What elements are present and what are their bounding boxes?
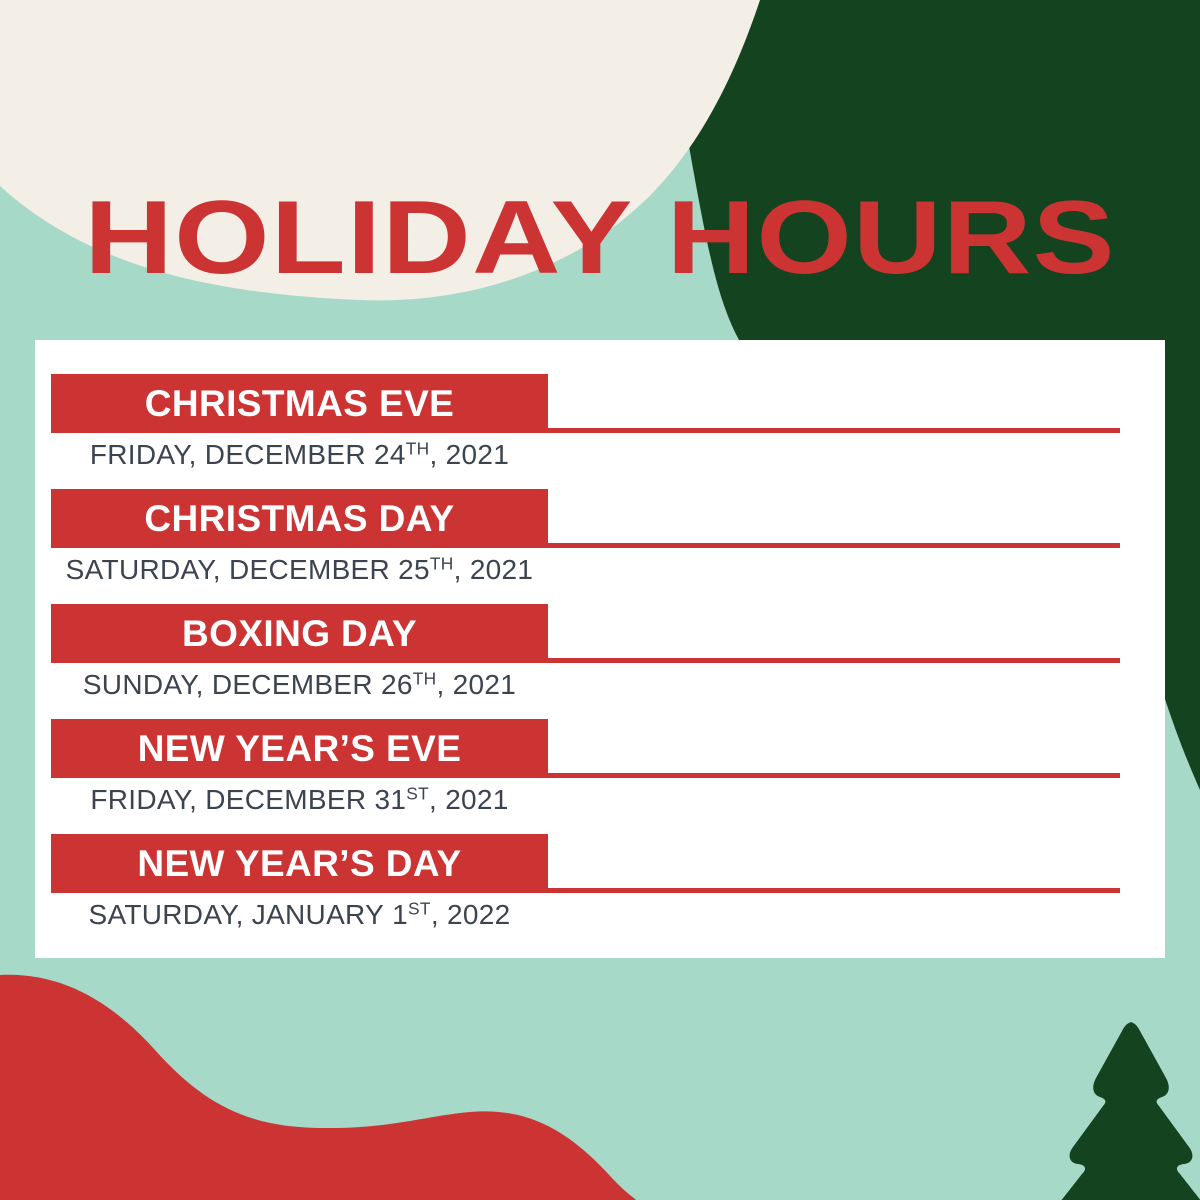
hours-write-in-rule[interactable] xyxy=(548,773,1120,778)
date-month: JANUARY xyxy=(252,899,384,930)
date-year: 2021 xyxy=(470,554,534,585)
date-ordinal: TH xyxy=(430,553,454,573)
schedule-row: CHRISTMAS EVE FRIDAY, DECEMBER 24TH, 202… xyxy=(35,374,1165,489)
date-day: 31 xyxy=(374,784,406,815)
date-day: 26 xyxy=(381,669,413,700)
date-year: 2021 xyxy=(445,784,509,815)
date-year: 2022 xyxy=(447,899,511,930)
holiday-date-label: FRIDAY, DECEMBER 31ST, 2021 xyxy=(51,783,548,817)
holiday-date-label: SATURDAY, DECEMBER 25TH, 2021 xyxy=(51,553,548,587)
date-month: DECEMBER xyxy=(212,669,373,700)
holiday-date-label: SUNDAY, DECEMBER 26TH, 2021 xyxy=(51,668,548,702)
holiday-name-bar: CHRISTMAS DAY xyxy=(51,489,548,548)
schedule-row: CHRISTMAS DAY SATURDAY, DECEMBER 25TH, 2… xyxy=(35,489,1165,604)
schedule-rows-list: CHRISTMAS EVE FRIDAY, DECEMBER 24TH, 202… xyxy=(35,340,1165,958)
date-day: 1 xyxy=(392,899,408,930)
date-weekday: SATURDAY, xyxy=(66,554,221,585)
holiday-name-bar: CHRISTMAS EVE xyxy=(51,374,548,433)
date-weekday: FRIDAY, xyxy=(90,439,197,470)
holiday-date-label: SATURDAY, JANUARY 1ST, 2022 xyxy=(51,898,548,932)
date-ordinal: ST xyxy=(406,783,429,803)
holiday-name-label: CHRISTMAS DAY xyxy=(144,500,454,537)
date-month: DECEMBER xyxy=(229,554,390,585)
schedule-card: CHRISTMAS EVE FRIDAY, DECEMBER 24TH, 202… xyxy=(35,340,1165,958)
date-year: 2021 xyxy=(446,439,510,470)
holiday-name-bar: NEW YEAR’S EVE xyxy=(51,719,548,778)
holiday-name-bar: NEW YEAR’S DAY xyxy=(51,834,548,893)
hours-write-in-rule[interactable] xyxy=(548,543,1120,548)
date-weekday: FRIDAY, xyxy=(90,784,197,815)
schedule-row: NEW YEAR’S DAY SATURDAY, JANUARY 1ST, 20… xyxy=(35,834,1165,949)
date-day: 25 xyxy=(398,554,430,585)
date-weekday: SUNDAY, xyxy=(83,669,204,700)
schedule-row: BOXING DAY SUNDAY, DECEMBER 26TH, 2021 xyxy=(35,604,1165,719)
date-month: DECEMBER xyxy=(205,439,366,470)
holiday-name-bar: BOXING DAY xyxy=(51,604,548,663)
date-month: DECEMBER xyxy=(205,784,366,815)
holiday-name-label: NEW YEAR’S EVE xyxy=(138,730,462,767)
date-ordinal: TH xyxy=(413,668,437,688)
hours-write-in-rule[interactable] xyxy=(548,658,1120,663)
date-ordinal: ST xyxy=(408,898,431,918)
holiday-date-label: FRIDAY, DECEMBER 24TH, 2021 xyxy=(51,438,548,472)
holiday-name-label: NEW YEAR’S DAY xyxy=(137,845,461,882)
hours-write-in-rule[interactable] xyxy=(548,888,1120,893)
date-year: 2021 xyxy=(453,669,517,700)
holiday-name-label: CHRISTMAS EVE xyxy=(145,385,454,422)
holiday-name-label: BOXING DAY xyxy=(182,615,417,652)
date-weekday: SATURDAY, xyxy=(88,899,243,930)
schedule-row: NEW YEAR’S EVE FRIDAY, DECEMBER 31ST, 20… xyxy=(35,719,1165,834)
hours-write-in-rule[interactable] xyxy=(548,428,1120,433)
page-title: HOLIDAY HOURS xyxy=(0,186,1200,290)
date-day: 24 xyxy=(374,439,406,470)
date-ordinal: TH xyxy=(406,438,430,458)
holiday-hours-poster: HOLIDAY HOURS CHRISTMAS EVE FRIDAY, DECE… xyxy=(0,0,1200,1200)
